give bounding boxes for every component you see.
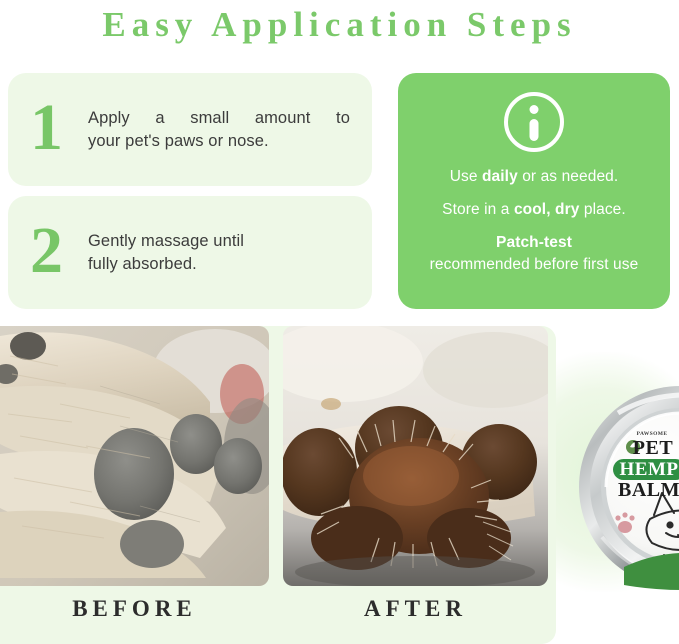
step-number-1: 1 <box>30 95 88 161</box>
step-text-2: Gently massage until fully absorbed. <box>88 230 338 276</box>
step-card-2: 2 Gently massage until fully absorbed. <box>8 196 372 309</box>
info-line-frequency-post: or as needed. <box>518 168 619 185</box>
info-icon-stem <box>530 119 539 141</box>
before-photo <box>0 326 269 586</box>
info-line-storage-pre: Store in a <box>442 201 514 218</box>
product-tin <box>578 385 679 590</box>
info-line-storage-bold: cool, dry <box>514 201 580 218</box>
step-text-2-line-2: fully absorbed. <box>88 255 197 273</box>
step-text-1: Apply a small amount to your pet's paws … <box>88 107 350 153</box>
page-title: Easy Application Steps <box>0 2 679 48</box>
step-text-2-line-1: Gently massage until <box>88 232 244 250</box>
step-card-1: 1 Apply a small amount to your pet's paw… <box>8 73 372 186</box>
info-line-frequency: Use daily or as needed. <box>414 166 654 188</box>
info-line-storage: Store in a cool, dry place. <box>414 199 654 221</box>
info-icon-dot <box>530 105 539 114</box>
step-number-2: 2 <box>30 218 88 284</box>
info-line-patch-test-bold: Patch-test <box>414 232 654 253</box>
info-line-storage-post: place. <box>579 201 625 218</box>
info-line-frequency-pre: Use <box>450 168 482 185</box>
before-paw-illustration <box>0 326 269 586</box>
before-label: BEFORE <box>0 596 269 622</box>
after-label: AFTER <box>283 596 548 622</box>
info-line-frequency-bold: daily <box>482 168 518 185</box>
info-line-patch-test-rest: recommended before first use <box>430 256 639 273</box>
easy-application-steps-infographic: Easy Application Steps 1 Apply a small a… <box>0 0 679 644</box>
info-line-patch-test: Patch-test recommended before first use <box>414 232 654 275</box>
info-circle-icon <box>504 92 564 152</box>
usage-info-card: Use daily or as needed. Store in a cool,… <box>398 73 670 309</box>
after-paw-illustration <box>283 326 548 586</box>
after-photo <box>283 326 548 586</box>
step-text-1-line-2: your pet's paws or nose. <box>88 132 269 150</box>
step-text-1-line-1: Apply a small amount to <box>88 107 350 130</box>
product-tin-illustration <box>578 385 679 590</box>
